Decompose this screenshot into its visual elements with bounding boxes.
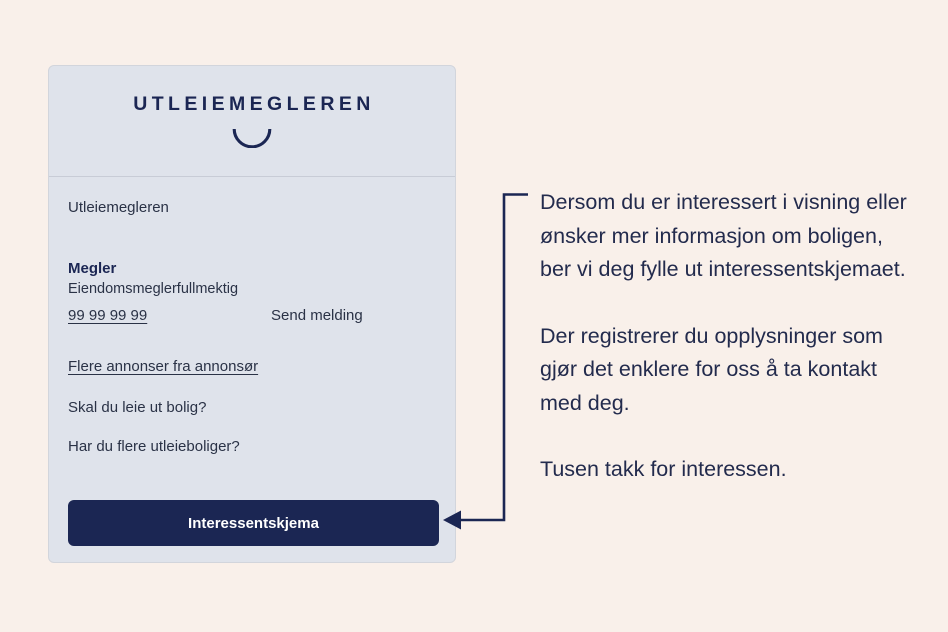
- card-header: UTLEIEMEGLEREN: [49, 66, 455, 177]
- logo-wordmark: UTLEIEMEGLEREN: [129, 95, 374, 115]
- interest-form-button[interactable]: Interessentskjema: [68, 500, 439, 546]
- card-links: Flere annonser fra annonsør Skal du leie…: [68, 358, 455, 455]
- agent-contact-card: UTLEIEMEGLEREN Utleiemegleren Megler Eie…: [48, 65, 456, 563]
- broker-label: Megler: [68, 260, 455, 277]
- card-body: Utleiemegleren Megler Eiendomsmeglerfull…: [49, 177, 455, 455]
- send-message-link[interactable]: Send melding: [271, 307, 363, 324]
- broker-contact-row: 99 99 99 99 Send melding: [68, 307, 455, 324]
- broker-phone-link[interactable]: 99 99 99 99: [68, 307, 271, 324]
- broker-job-title: Eiendomsmeglerfullmektig: [68, 281, 455, 297]
- annotation-text: Dersom du er interessert i visning eller…: [540, 186, 912, 487]
- annotation-paragraph-2: Der registrerer du opplysninger som gjør…: [540, 320, 912, 421]
- annotation-paragraph-1: Dersom du er interessert i visning eller…: [540, 186, 912, 287]
- smile-arc-icon: [232, 128, 272, 148]
- more-ads-from-advertiser-link[interactable]: Flere annonser fra annonsør: [68, 358, 455, 375]
- rent-out-property-link[interactable]: Skal du leie ut bolig?: [68, 399, 455, 416]
- annotation-paragraph-3: Tusen takk for interessen.: [540, 453, 912, 487]
- more-rental-properties-link[interactable]: Har du flere utleieboliger?: [68, 438, 455, 455]
- broker-block: Megler Eiendomsmeglerfullmektig 99 99 99…: [68, 260, 455, 324]
- agency-name: Utleiemegleren: [68, 198, 455, 218]
